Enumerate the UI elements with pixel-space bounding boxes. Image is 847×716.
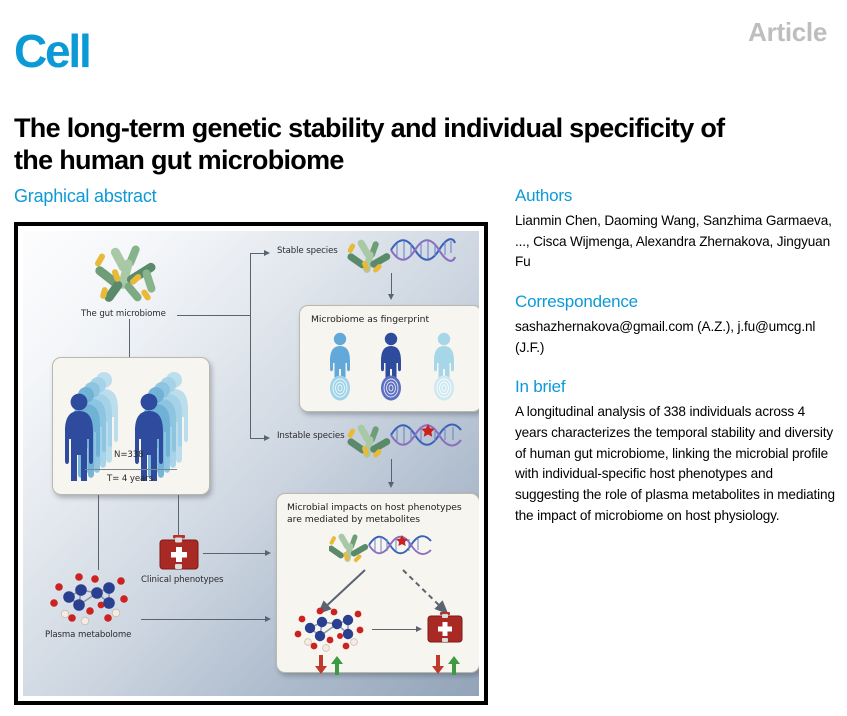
label-gut-microbiome: The gut microbiome (81, 309, 166, 319)
in-brief-text: A longitudinal analysis of 338 individua… (515, 402, 840, 526)
correspondence-heading: Correspondence (515, 292, 840, 312)
arrow-clinical-to-impacts (265, 550, 271, 556)
graphical-abstract-heading: Graphical abstract (14, 186, 156, 207)
metabolite-updown-arrows (311, 655, 347, 675)
correspondence-emails[interactable]: sashazhernakova@gmail.com (A.Z.), j.fu@u… (515, 317, 840, 358)
figure-canvas: The gut microbiome Stable species Instab… (23, 231, 479, 696)
connector-microbiome-to-cohort (129, 319, 130, 357)
cohort-person-stack-left (64, 369, 128, 481)
correspondence-block: Correspondence sashazhernakova@gmail.com… (515, 292, 840, 358)
connector-cohort-to-metabolome (98, 495, 99, 570)
label-clinical-phenotypes: Clinical phenotypes (141, 575, 223, 585)
connector-to-stable (250, 253, 265, 254)
label-n-participants: N=338 (114, 450, 144, 460)
fingerprint-individual-2 (376, 332, 406, 402)
authors-list: Lianmin Chen, Daoming Wang, Sanzhima Gar… (515, 211, 840, 273)
impacts-medkit-icon (427, 612, 463, 644)
instable-species-dna-mutation-icon (389, 422, 463, 448)
connector-to-instable (250, 438, 265, 439)
arrow-to-fingerprint-panel (388, 294, 394, 300)
clinical-phenotypes-medkit-icon (159, 535, 199, 571)
impacts-panel-title: Microbial impacts on host phenotypes are… (287, 502, 473, 525)
connector-instable-to-impacts (391, 459, 392, 483)
right-column: Authors Lianmin Chen, Daoming Wang, Sanz… (515, 186, 840, 526)
graphical-abstract-figure: The gut microbiome Stable species Instab… (14, 222, 488, 705)
label-duration: T= 4 years (107, 474, 153, 484)
authors-block: Authors Lianmin Chen, Daoming Wang, Sanz… (515, 186, 840, 273)
connector-cohort-to-clinical (178, 495, 179, 535)
phenotype-updown-arrows (428, 655, 464, 675)
page-title: The long-term genetic stability and indi… (14, 113, 754, 177)
arrow-metabolite-to-phenotype (416, 626, 422, 632)
arrow-to-impacts-panel (388, 482, 394, 488)
article-type-kicker: Article (748, 17, 827, 48)
arrow-metabolome-to-impacts (265, 616, 271, 622)
connector-microbiome-to-split (177, 315, 251, 316)
arrow-stable-species (264, 250, 270, 256)
gut-microbiome-bacteria-icon (85, 243, 177, 305)
fingerprint-individual-3 (429, 332, 459, 402)
connector-metabolome-to-impacts (141, 619, 266, 620)
authors-heading: Authors (515, 186, 840, 206)
fingerprint-individual-1 (325, 332, 355, 402)
fingerprint-panel-title: Microbiome as fingerprint (311, 314, 476, 326)
journal-logo-cell: Cell (14, 28, 90, 74)
in-brief-block: In brief A longitudinal analysis of 338 … (515, 377, 840, 526)
stable-species-dna-icon (389, 237, 457, 263)
connector-metabolite-to-phenotype (372, 629, 417, 630)
in-brief-heading: In brief (515, 377, 840, 397)
arrow-instable-species (264, 435, 270, 441)
connector-split-trunk (250, 253, 251, 439)
plasma-metabolome-molecule-icon (45, 571, 133, 627)
impacts-bacteria-dna-icon (329, 531, 437, 565)
connector-stable-to-fingerprint (391, 273, 392, 295)
connector-clinical-to-impacts (203, 553, 266, 554)
cohort-timeline-rule (85, 469, 177, 470)
impacts-metabolite-molecule-icon (290, 606, 368, 654)
cohort-person-stack-right (134, 369, 198, 481)
label-stable-species: Stable species (277, 246, 338, 256)
label-instable-species: Instable species (277, 431, 344, 441)
label-plasma-metabolome: Plasma metabolome (45, 630, 131, 640)
